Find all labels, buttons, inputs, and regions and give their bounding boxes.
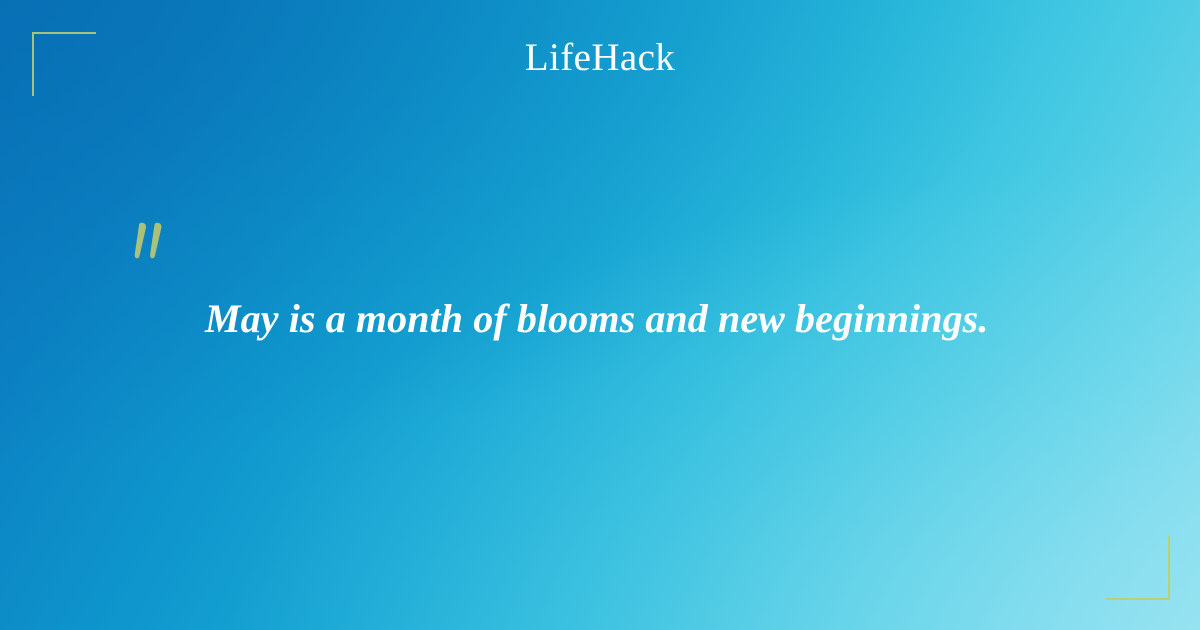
brand-logo: LifeHack — [0, 38, 1200, 77]
quote-text: May is a month of blooms and new beginni… — [205, 294, 1105, 344]
quote-card: LifeHack May is a month of blooms and ne… — [0, 0, 1200, 630]
corner-bracket-bottom-right-icon — [1106, 536, 1170, 600]
double-prime-quote-icon — [133, 222, 167, 264]
